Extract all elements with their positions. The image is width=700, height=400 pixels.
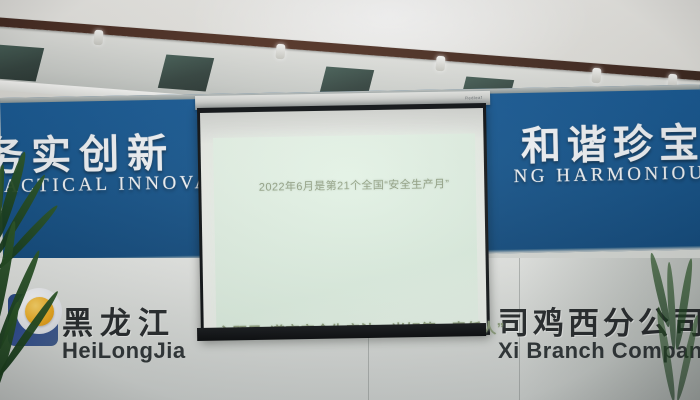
ceiling-lamp — [591, 68, 601, 84]
ceiling-lamp — [435, 56, 445, 72]
ceiling-lamp — [275, 44, 285, 60]
projected-slide — [213, 133, 478, 334]
banner-right-english-text: NG HARMONIOUS ZBD — [513, 161, 700, 188]
logo-sun-icon — [25, 297, 54, 326]
zbd-sun-logo — [8, 288, 66, 350]
meeting-room-photo: 务实创新 RACTICAL INNOVAT 和谐珍宝岛 NG HARMONIOU… — [0, 0, 700, 400]
company-name-right-english: Xi Branch Company — [498, 338, 700, 364]
company-name-right-chinese: 司鸡西分公司 — [498, 298, 700, 343]
projector-screen: Redleaf 2022年6月是第21个全国“安全生产月” 主题是“遵守安全生产… — [195, 96, 490, 346]
company-name-left-chinese: 黑龙江 — [62, 298, 176, 343]
ceiling-vent — [158, 54, 214, 91]
ceiling-lamp — [93, 30, 103, 46]
company-name-left-english: HeiLongJia — [62, 338, 186, 364]
screen-brand-label: Redleaf — [465, 95, 482, 101]
banner-left-english-text: RACTICAL INNOVAT — [0, 172, 225, 199]
